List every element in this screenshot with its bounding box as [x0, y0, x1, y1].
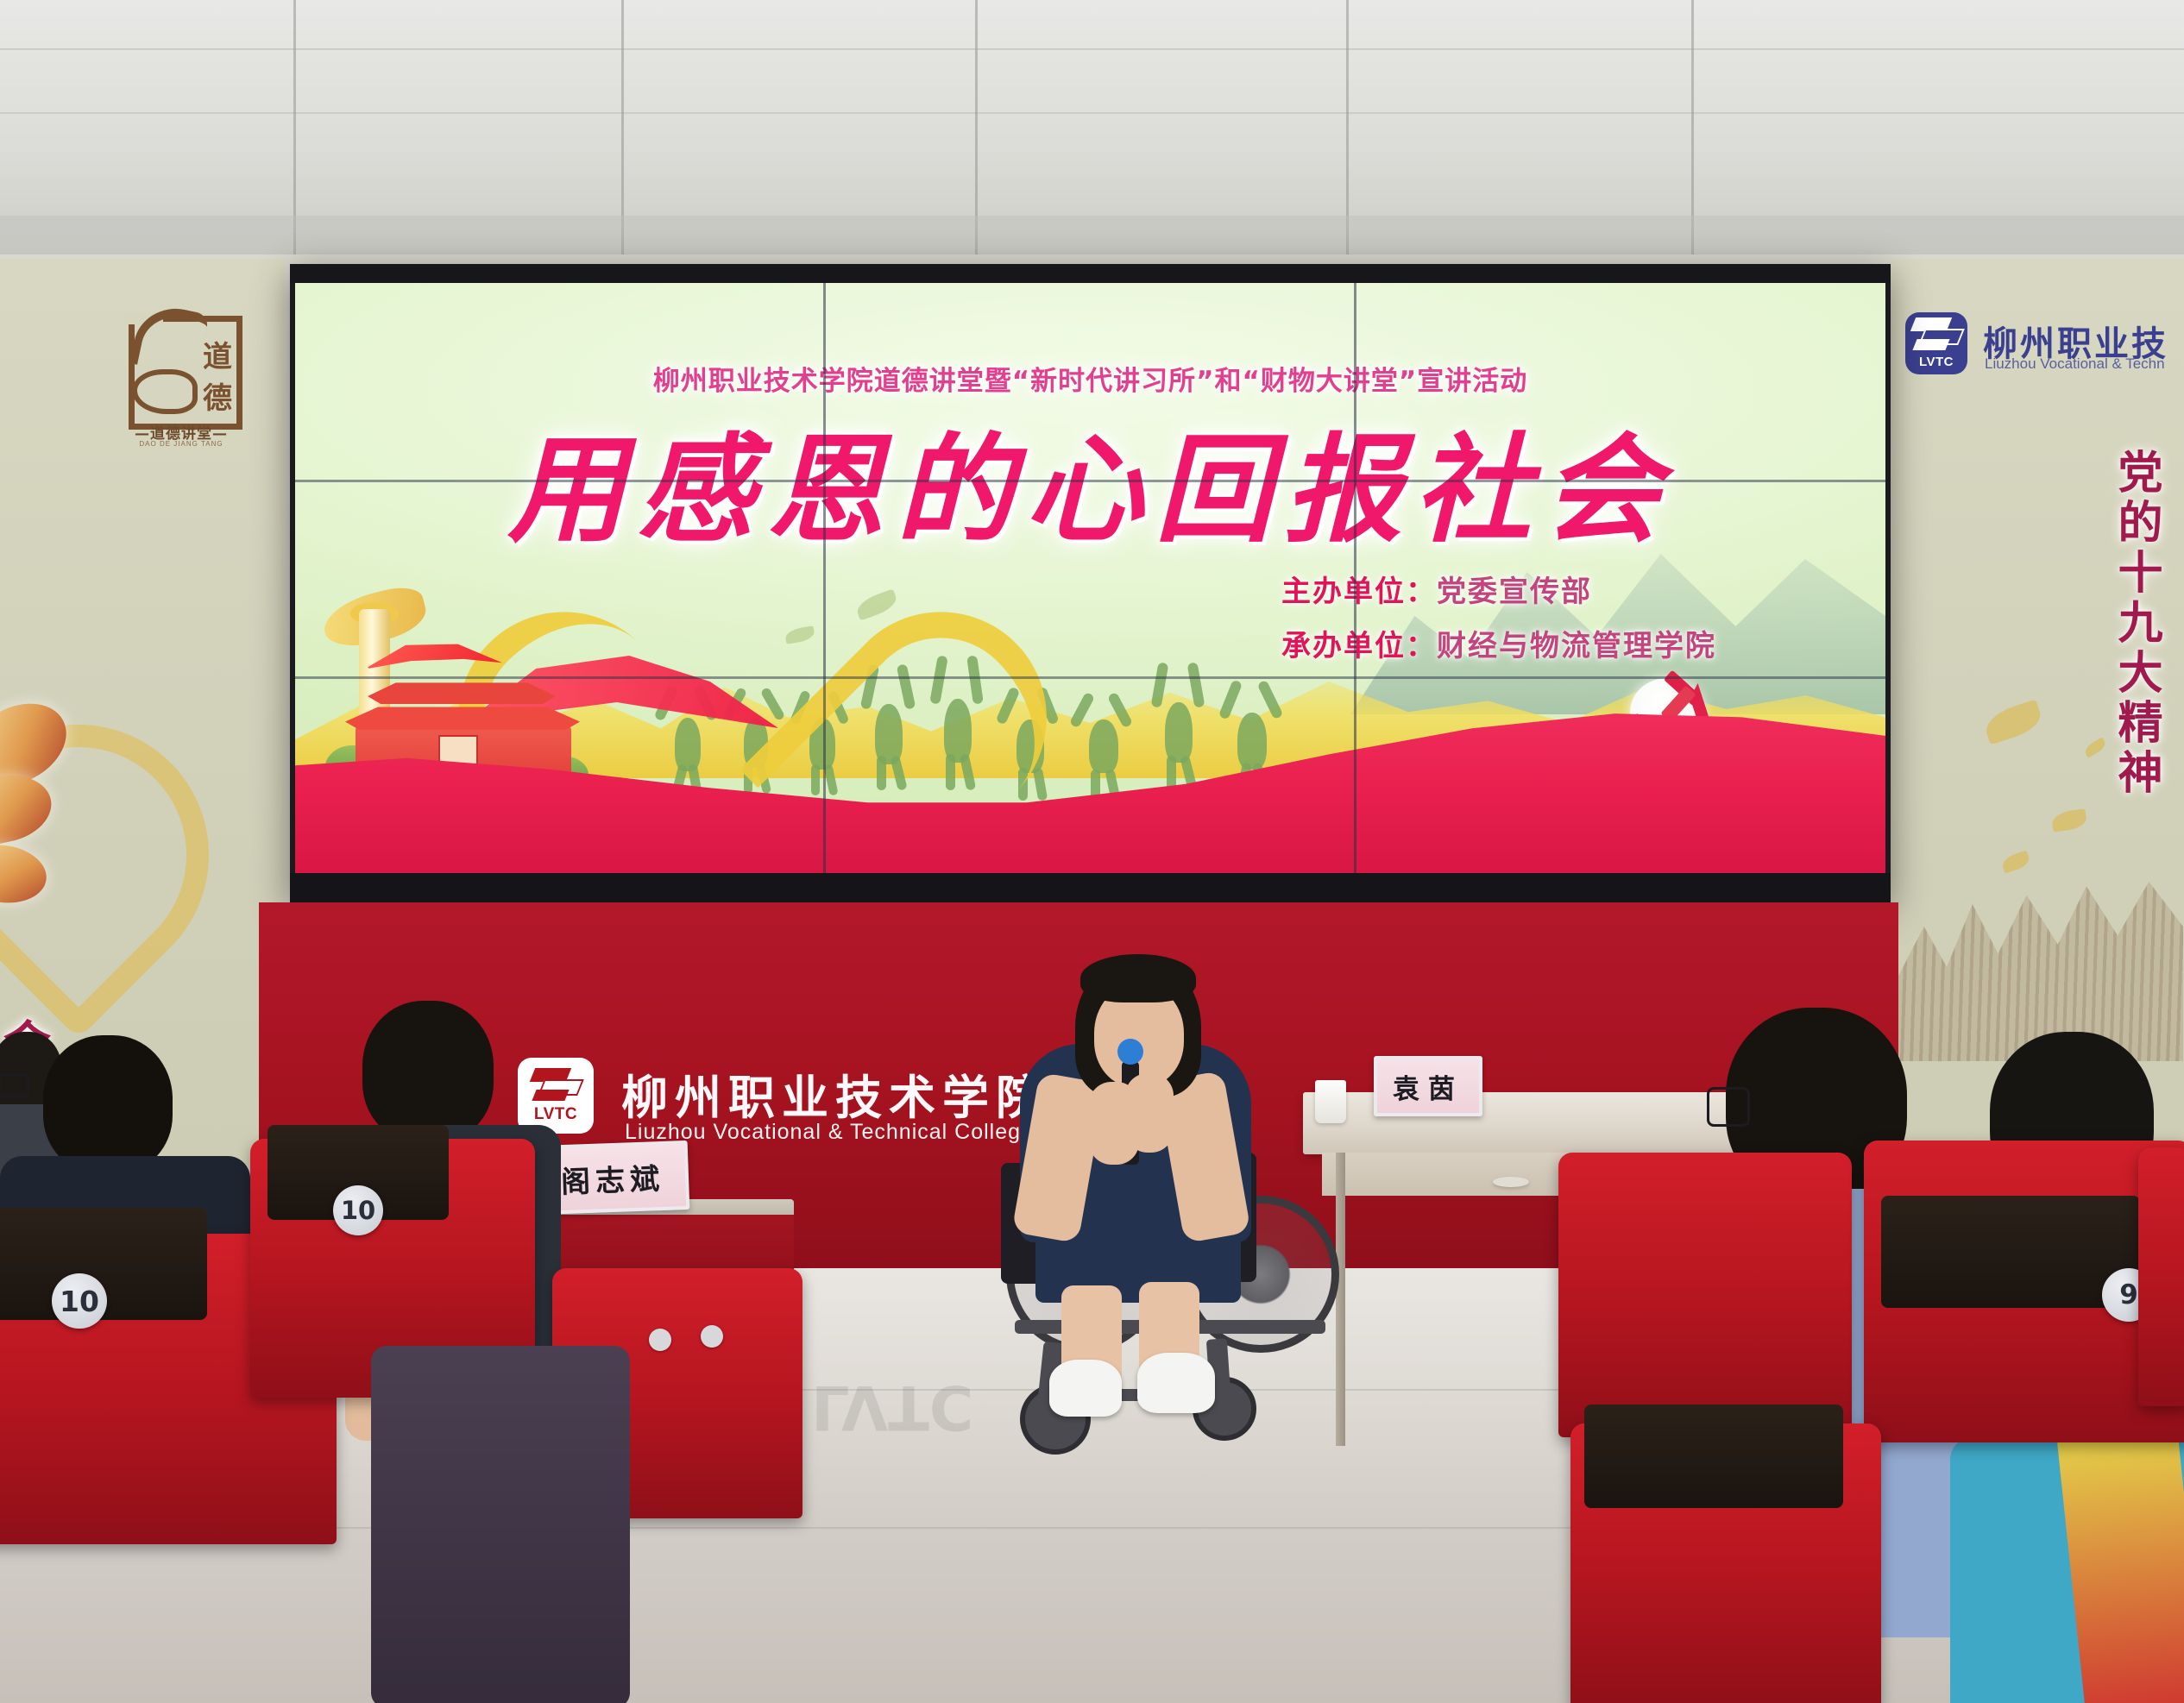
great-wall-graphic — [1898, 837, 2183, 1061]
glasses — [1707, 1087, 1750, 1127]
host-value: 财经与物流管理学院 — [1437, 629, 1716, 663]
host-label: 承办单位： — [1281, 629, 1437, 663]
seat-knob — [701, 1325, 723, 1348]
seat-number-text: 10 — [341, 1196, 375, 1225]
person-head — [43, 1035, 173, 1173]
seat-side-panel — [1584, 1405, 1843, 1508]
speaker-hand-right — [1125, 1073, 1174, 1153]
seat-side-panel — [1881, 1196, 2140, 1308]
seat-number-text: 10 — [60, 1285, 99, 1318]
paper-cup — [1315, 1080, 1346, 1123]
seat-right-front — [1558, 1153, 1852, 1437]
speaker-shoe-right — [1137, 1353, 1215, 1413]
seat-knob — [649, 1329, 671, 1351]
saucer — [1493, 1177, 1529, 1187]
logo-char-dao: 道 — [203, 333, 232, 375]
seat-right-far — [2138, 1147, 2184, 1406]
led-video-wall: 柳州职业技术学院道德讲堂暨“新时代讲习所”和“财物大讲堂”宣讲活动 用感恩的心回… — [290, 264, 1891, 902]
stage-college-cn: 柳州职业技术学院 — [621, 1059, 1049, 1128]
speaker-fringe — [1080, 954, 1196, 1002]
moral-lecture-hall-logo: 道 德 —道德讲堂— DAO DE JIANG TANG — [116, 312, 246, 450]
stage-lvtc-logo: LVTC — [518, 1058, 594, 1134]
seat-number-badge: 10 — [52, 1273, 107, 1329]
organizer-label: 主办单位： — [1281, 575, 1437, 609]
placard-name: 阁志斌 — [560, 1154, 665, 1200]
placard-name: 袁茵 — [1393, 1067, 1463, 1106]
slide-header-text: 柳州职业技术学院道德讲堂暨“新时代讲习所”和“财物大讲堂”宣讲活动 — [295, 359, 1885, 398]
organizer-line: 主办单位：党委宣传部 — [1281, 568, 1716, 610]
organizer-value: 党委宣传部 — [1437, 575, 1592, 609]
right-banner-lvtc-logo: LVTC — [1905, 312, 1967, 374]
speaker-shoe-left — [1049, 1360, 1122, 1417]
stage-logo-text: LVTC — [534, 1105, 577, 1124]
host-line: 承办单位：财经与物流管理学院 — [1281, 622, 1716, 664]
organizer-block: 主办单位：党委宣传部 承办单位：财经与物流管理学院 — [1281, 568, 1716, 676]
right-banner-college-en: Liuzhou Vocational & Techn — [1985, 355, 2165, 373]
microphone-head — [1117, 1039, 1143, 1065]
right-wall-banner: LVTC 柳州职业技 Liuzhou Vocational & Techn 党的… — [1890, 259, 2184, 1165]
ceiling — [0, 0, 2184, 259]
name-placard-yuan-yin: 袁茵 — [1374, 1056, 1482, 1116]
floor-reflection: LVTC — [811, 1372, 973, 1442]
logo-char-de: 德 — [203, 374, 232, 417]
right-banner-vertical-text: 党的十九大精神 — [2104, 449, 2168, 799]
person-head — [362, 1001, 494, 1142]
photo-scene: 会 LVTC 柳州职业技 Liuzhou Vocational & Techn … — [0, 0, 2184, 1703]
right-banner-logo-text: LVTC — [1919, 355, 1954, 369]
seated-person-back — [371, 1346, 630, 1703]
presentation-screen: 柳州职业技术学院道德讲堂暨“新时代讲习所”和“财物大讲堂”宣讲活动 用感恩的心回… — [295, 283, 1885, 873]
seat-number-badge: 10 — [333, 1185, 383, 1235]
table-leg — [1336, 1153, 1345, 1446]
seat-number-text: 9 — [2119, 1279, 2138, 1310]
glasses — [0, 1073, 29, 1097]
logo-subcaption: DAO DE JIANG TANG — [116, 440, 246, 448]
